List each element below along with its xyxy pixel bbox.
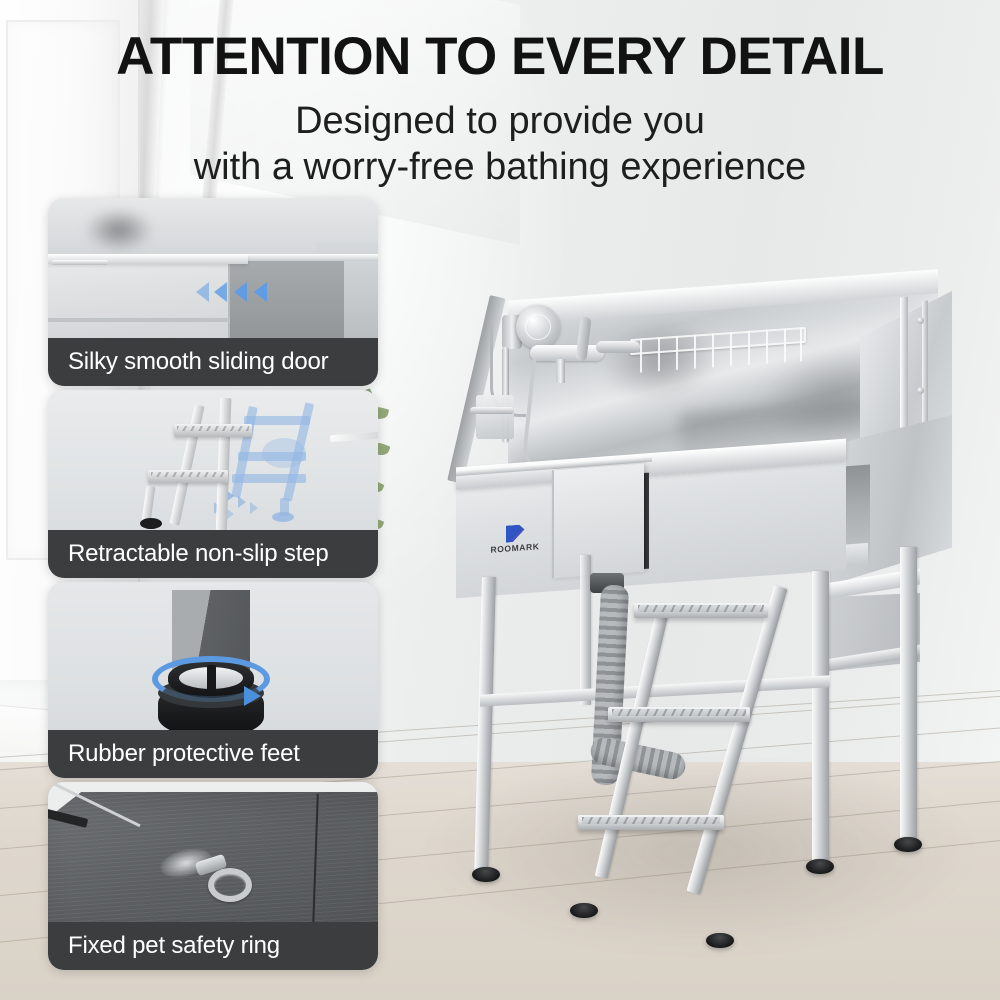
faucet-spout — [596, 341, 640, 353]
rubber-foot-front-right — [806, 859, 834, 874]
ladder-tread-bottom — [578, 815, 724, 830]
brand-logo: ROOMARK — [482, 523, 548, 556]
page-subline-2: with a worry-free bathing experience — [0, 146, 1000, 189]
rubber-foot-front-left — [472, 867, 500, 882]
ladder-foot-right — [706, 933, 734, 948]
card-caption-rubber-feet: Rubber protective feet — [48, 730, 378, 778]
wing-screw-mid — [917, 387, 924, 394]
chevron-left-icon-2 — [214, 282, 227, 302]
tie-down-ring-icon — [208, 868, 252, 902]
scene-stage: ROOMARK ATTENTION TO EVERY DETAIL Design… — [0, 0, 1000, 1000]
ladder-foot-left — [570, 903, 598, 918]
feature-card-sliding-door[interactable]: Silky smooth sliding door — [48, 198, 378, 386]
feature-card-retractable-step[interactable]: Retractable non-slip step — [48, 390, 378, 578]
ladder-tread-top — [634, 603, 768, 618]
product-bathtub: ROOMARK — [430, 255, 990, 945]
chevron-left-icon-3 — [234, 282, 247, 302]
chevron-left-icon-1 — [196, 282, 209, 302]
ladder-rail-front — [686, 585, 787, 895]
leg-back-right — [900, 547, 917, 847]
card-caption-retractable-step: Retractable non-slip step — [48, 530, 378, 578]
page-subline-1: Designed to provide you — [0, 100, 1000, 143]
leg-front-left — [474, 577, 496, 877]
leg-front-right — [812, 571, 829, 871]
r-logo-mark-icon — [506, 524, 525, 542]
wing-screw-top — [917, 317, 924, 324]
valve-housing — [476, 395, 514, 439]
round-shower-head[interactable] — [516, 305, 560, 349]
feature-card-safety-ring[interactable]: Fixed pet safety ring — [48, 782, 378, 970]
cross-brace-front — [480, 675, 830, 707]
feature-card-rubber-feet[interactable]: Rubber protective feet — [48, 582, 378, 778]
rotation-arrow-head-icon — [244, 686, 261, 706]
sliding-door-panel[interactable] — [552, 464, 644, 579]
page-headline: ATTENTION TO EVERY DETAIL — [0, 26, 1000, 87]
rubber-foot-back-right — [894, 837, 922, 852]
card-caption-safety-ring: Fixed pet safety ring — [48, 922, 378, 970]
valve-handle[interactable] — [470, 407, 514, 414]
step-rubber-foot-left — [140, 518, 162, 529]
ladder-tread-middle — [608, 707, 750, 722]
splash-reflection-1 — [600, 317, 720, 406]
chevron-left-icon-4 — [254, 282, 267, 302]
card-caption-sliding-door: Silky smooth sliding door — [48, 338, 378, 386]
